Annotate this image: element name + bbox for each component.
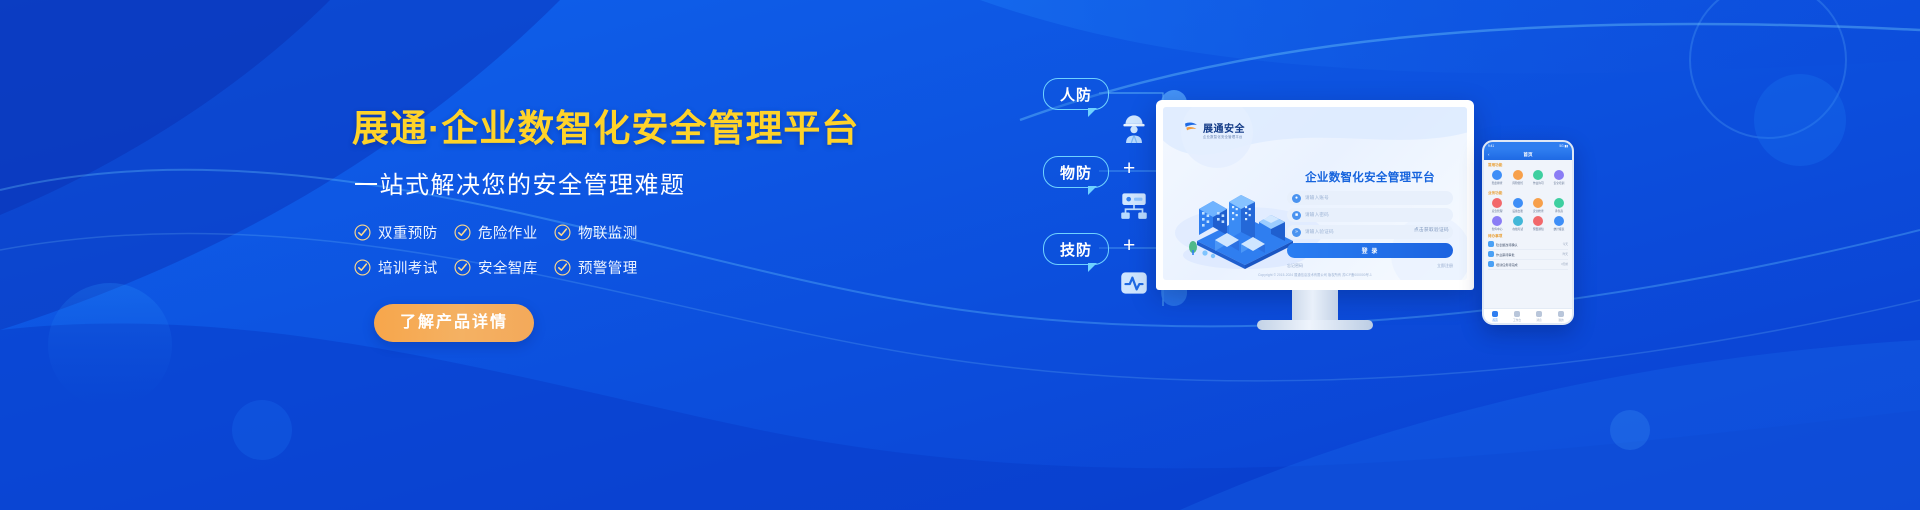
app-dot-icon [1492,170,1502,180]
badge-plus-separator: + [1123,234,1135,258]
list-item-meta: 今天 [1563,242,1568,246]
app-icon-tile[interactable]: 统计报表 [1550,216,1568,231]
login-footer-links: 忘记密码 立即注册 [1287,263,1453,269]
app-dot-icon [1513,198,1523,208]
check-circle-icon [354,259,371,276]
list-bullet-icon [1488,251,1494,257]
tab-home[interactable]: 首页 [1484,309,1506,323]
lock-icon: ■ [1292,211,1301,220]
badge-label: 人防 [1060,84,1092,105]
logo-text: 展通安全 [1203,120,1245,135]
phone-tab-bar: 首页 工作台 消息 我的 [1484,308,1572,323]
tab-profile[interactable]: 我的 [1550,309,1572,323]
feature-row: 培训考试 安全智库 预警管理 [354,257,654,278]
list-item-title: 隐患整改待确认 [1496,242,1518,247]
list-item[interactable]: 隐患整改待确认今天 [1488,240,1568,250]
register-link[interactable]: 立即注册 [1437,263,1453,269]
status-signal: 5G ▮▮ [1559,144,1568,148]
phone-todo-list: 待办事项 隐患整改待确认今天 作业票待审批昨天 培训任务待完成3天前 [1488,234,1568,270]
background-decoration [0,0,1920,510]
badge-jifang[interactable]: 技防 [1043,233,1109,265]
check-circle-icon [454,259,471,276]
feature-label: 危险作业 [478,222,538,243]
feature-item: 预警管理 [554,257,654,278]
badge-label: 技防 [1060,239,1092,260]
person-icon [1558,311,1564,317]
logo-mark-icon [1183,119,1199,135]
app-label: 智库中心 [1492,227,1503,231]
login-screen: 展通安全 企业数智化安全管理平台 [1163,107,1467,280]
monitor-stand-base [1257,320,1373,330]
tab-messages[interactable]: 消息 [1528,309,1550,323]
app-dot-icon [1492,216,1502,226]
chevron-left-icon[interactable]: ‹ [1488,152,1490,157]
badge-label: 物防 [1060,162,1092,183]
captcha-placeholder: 请输入验证码 [1305,229,1334,235]
list-item-meta: 3天前 [1561,262,1568,266]
app-label: 作业许可 [1533,181,1544,185]
phone-status-bar: 9:41 5G ▮▮ [1484,142,1572,149]
feature-label: 预警管理 [578,257,638,278]
app-icon-tile[interactable]: 风险管控 [1509,170,1527,185]
app-dot-icon [1492,198,1502,208]
check-circle-icon [554,224,571,241]
app-dot-icon [1513,170,1523,180]
badge-renfang[interactable]: 人防 [1043,78,1109,110]
check-circle-icon [554,259,571,276]
tab-label: 工作台 [1513,318,1521,322]
feature-item: 危险作业 [454,222,554,243]
app-label: 统计报表 [1554,227,1565,231]
list-label: 待办事项 [1488,234,1568,239]
list-item-title: 培训任务待完成 [1496,262,1518,267]
grid-icon [1514,311,1520,317]
list-item[interactable]: 作业票待审批昨天 [1488,250,1568,260]
phone-section-business: 业务功能 应急管理 设备台账 安全检查 承包商 智库中心 在线考试 预警通知 统… [1484,188,1572,231]
username-placeholder: 请输入账号 [1305,195,1329,201]
copyright-text: Copyright © 2015-2024 展通信息技术有限公司 版权所有 苏I… [1163,272,1467,277]
status-time: 9:41 [1488,144,1494,148]
tab-label: 首页 [1492,318,1497,322]
app-label: 设备台账 [1512,209,1523,213]
monitor-bezel: 展通安全 企业数智化安全管理平台 [1156,100,1474,290]
password-field[interactable]: ■ 请输入密码 [1287,208,1453,222]
feature-item: 培训考试 [354,257,454,278]
user-icon: ● [1292,194,1301,203]
login-button[interactable]: 登 录 [1287,243,1453,258]
app-dot-icon [1554,216,1564,226]
list-bullet-icon [1488,241,1494,247]
app-icon-tile[interactable]: 设备台账 [1509,198,1527,213]
app-grid-business: 应急管理 设备台账 安全检查 承包商 智库中心 在线考试 预警通知 统计报表 [1488,198,1568,231]
captcha-hint[interactable]: 点击获取验证码 [1414,227,1449,233]
list-item-meta: 昨天 [1563,252,1568,256]
app-icon-tile[interactable]: 安全培训 [1550,170,1568,185]
page-subtitle: 一站式解决您的安全管理难题 [354,165,912,200]
app-icon-tile[interactable]: 应急管理 [1488,198,1506,213]
list-item-title: 作业票待审批 [1496,252,1515,257]
network-device-icon [1117,188,1151,222]
section-label: 业务功能 [1488,191,1568,196]
check-circle-icon [354,224,371,241]
tab-label: 消息 [1536,318,1541,322]
list-bullet-icon [1488,261,1494,267]
desktop-monitor-mockup: 展通安全 企业数智化安全管理平台 [1156,100,1474,330]
password-placeholder: 请输入密码 [1305,212,1329,218]
app-label: 应急管理 [1492,209,1503,213]
login-title: 企业数智化安全管理平台 [1287,169,1453,185]
forgot-password-link[interactable]: 忘记密码 [1287,263,1303,269]
app-label: 在线考试 [1512,227,1523,231]
badge-plus-separator: + [1123,157,1135,181]
badge-wufang[interactable]: 物防 [1043,156,1109,188]
app-icon-tile[interactable]: 承包商 [1550,198,1568,213]
check-circle-icon [454,224,471,241]
shield-icon: » [1292,228,1301,237]
app-icon-tile[interactable]: 隐患排查 [1488,170,1506,185]
username-field[interactable]: ● 请输入账号 [1287,191,1453,205]
section-label: 常用功能 [1488,163,1568,168]
app-icon-tile[interactable]: 在线考试 [1509,216,1527,231]
hero-copy: 展通·企业数智化安全管理平台 一站式解决您的安全管理难题 双重预防 危险作业 [352,108,912,342]
app-label: 风险管控 [1512,181,1523,185]
mobile-app-mockup: 9:41 5G ▮▮ ‹ 首页 常用功能 隐患排查 风险管控 作业许可 安全培训… [1482,140,1574,325]
message-icon [1536,311,1542,317]
app-grid-common: 隐患排查 风险管控 作业许可 安全培训 [1488,170,1568,185]
tab-label: 我的 [1558,318,1563,322]
hero-banner: 展通·企业数智化安全管理平台 一站式解决您的安全管理难题 双重预防 危险作业 [0,0,1920,510]
app-label: 隐患排查 [1492,181,1503,185]
app-icon-tile[interactable]: 安全检查 [1529,198,1547,213]
phone-header: ‹ 首页 [1484,149,1572,160]
app-dot-icon [1554,198,1564,208]
feature-list: 双重预防 危险作业 物联监测 [354,222,654,278]
app-label: 承包商 [1555,209,1563,213]
app-label: 安全培训 [1554,181,1565,185]
home-icon [1492,311,1498,317]
list-item[interactable]: 培训任务待完成3天前 [1488,260,1568,270]
app-label: 预警通知 [1533,227,1544,231]
feature-item: 物联监测 [554,222,654,243]
phone-section-common: 常用功能 隐患排查 风险管控 作业许可 安全培训 [1484,160,1572,185]
app-dot-icon [1533,170,1543,180]
feature-item: 安全智库 [454,257,554,278]
hard-hat-worker-icon [1117,110,1151,144]
brand-logo: 展通安全 [1183,119,1245,135]
app-dot-icon [1533,198,1543,208]
feature-item: 双重预防 [354,222,454,243]
app-dot-icon [1513,216,1523,226]
app-dot-icon [1554,170,1564,180]
learn-more-button[interactable]: 了解产品详情 [374,304,534,342]
feature-label: 物联监测 [578,222,638,243]
waveform-monitor-icon [1117,266,1151,300]
feature-label: 双重预防 [378,222,438,243]
page-title: 展通·企业数智化安全管理平台 [352,108,912,149]
feature-row: 双重预防 危险作业 物联监测 [354,222,654,243]
feature-label: 培训考试 [378,257,438,278]
feature-label: 安全智库 [478,257,538,278]
tab-workbench[interactable]: 工作台 [1506,309,1528,323]
monitor-stand-neck [1292,290,1338,320]
phone-title: 首页 [1523,152,1532,158]
app-icon-tile[interactable]: 作业许可 [1529,170,1547,185]
logo-subtext: 企业数智化安全管理平台 [1203,134,1243,139]
app-icon-tile[interactable]: 智库中心 [1488,216,1506,231]
app-dot-icon [1533,216,1543,226]
app-icon-tile[interactable]: 预警通知 [1529,216,1547,231]
app-label: 安全检查 [1533,209,1544,213]
